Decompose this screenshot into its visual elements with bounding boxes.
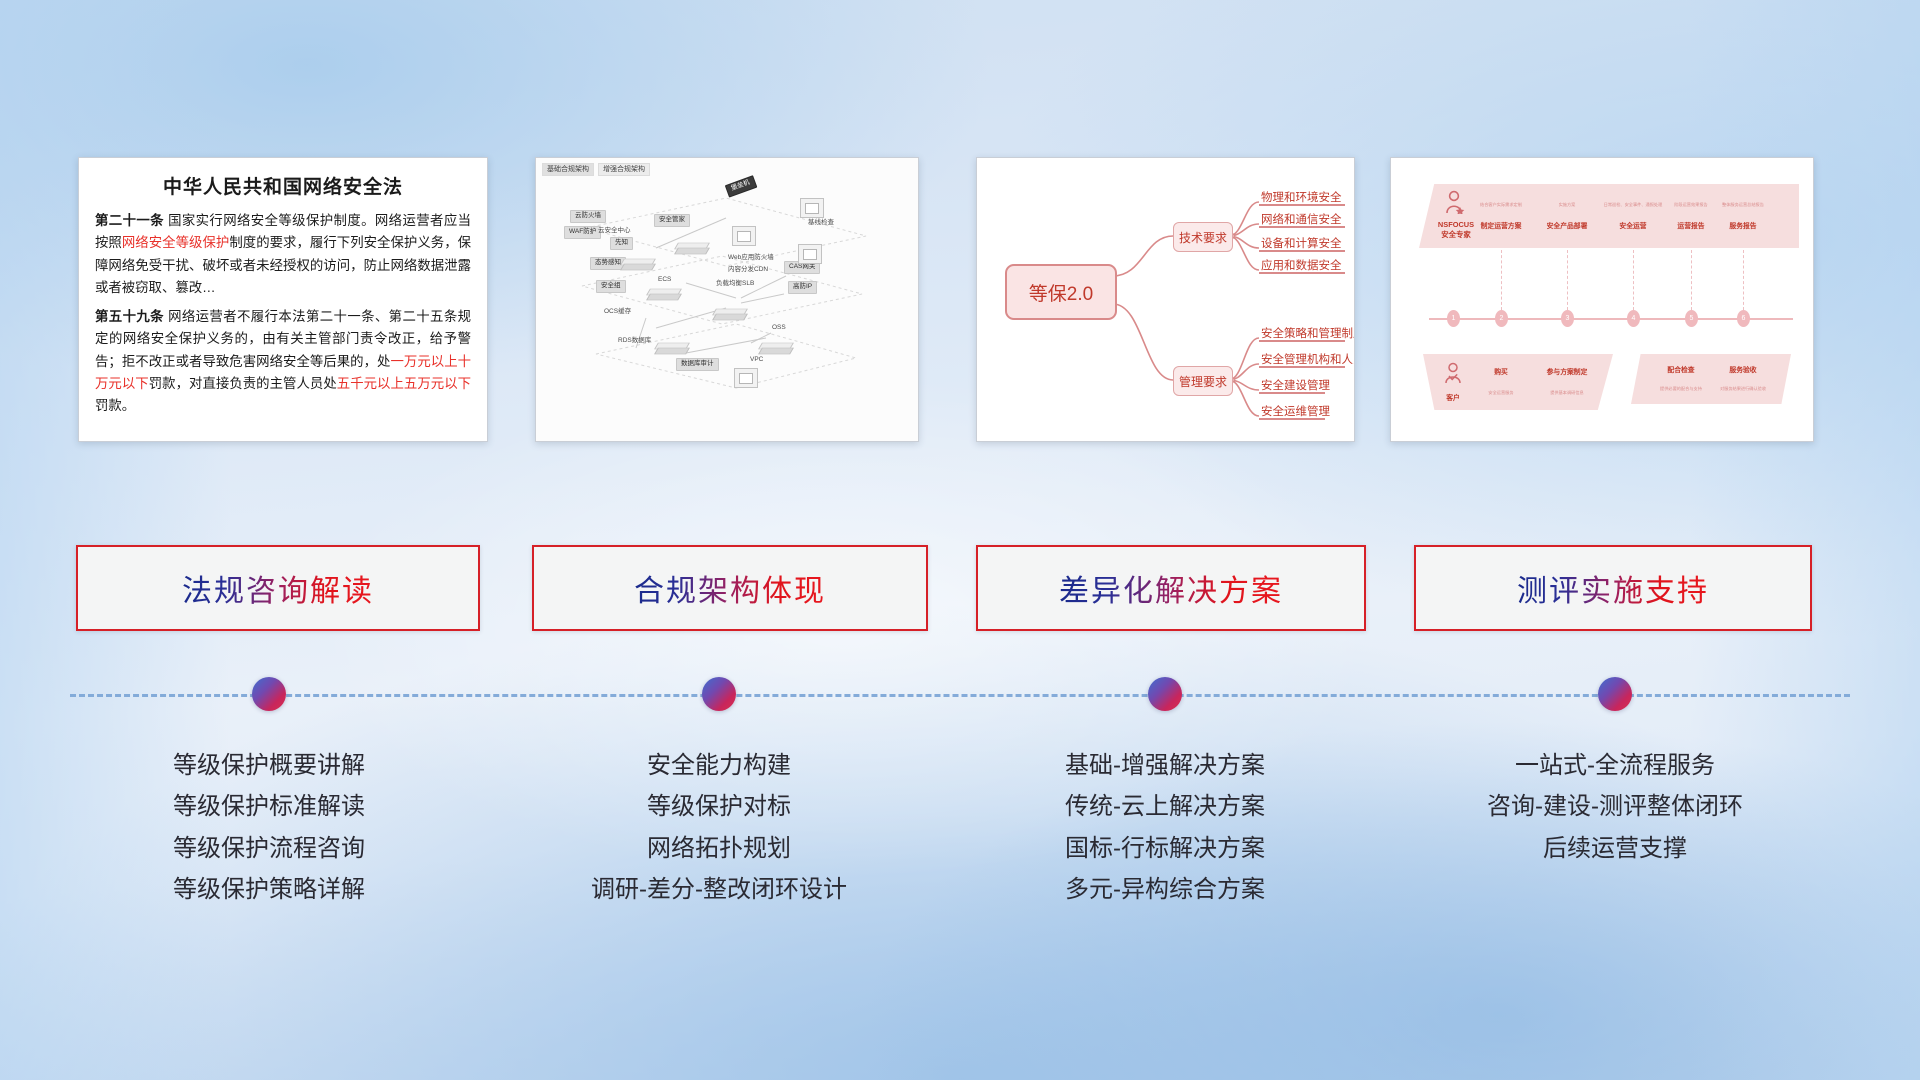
flow-bottom-step-subtext: 提供基本调研信息 [1531,390,1603,396]
architecture-node: 基线检查 [804,218,838,229]
mindmap-leaf-underline [1259,204,1345,206]
pillar-column-3: 基础-增强解决方案传统-云上解决方案国标-行标解决方案多元-异构综合方案 [950,745,1380,910]
architecture-node: 云防火墙 [570,210,606,223]
flow-step-label: 制定运营方案 [1469,220,1533,230]
architecture-node: 安全管家 [654,214,690,227]
pillar-heading-box-2[interactable]: 合规架构体现 [532,545,928,631]
thumbnail-card-architecture[interactable]: 基础合规架构 增强合规架构 堡垒机安全管家先知态势感知云防火墙WAF防护云安全中… [535,157,919,442]
pillar-heading-box-3[interactable]: 差异化解决方案 [976,545,1366,631]
pillar-item: 等级保护流程咨询 [54,828,484,869]
flow-step-label: 服务报告 [1711,220,1775,230]
pillar-column-2: 安全能力构建等级保护对标网络拓扑规划调研-差分-整改闭环设计 [504,745,934,910]
flow-step-marker[interactable]: 6 [1737,310,1750,327]
pillar-heading-box-1[interactable]: 法规咨询解读 [76,545,480,631]
pillar-heading-label: 法规咨询解读 [182,566,374,610]
mindmap-leaf[interactable]: 应用和数据安全 [1261,257,1342,273]
flow-band-bottom-right [1631,354,1791,404]
customer-icon [1443,362,1463,389]
flow-tick [1743,250,1745,310]
architecture-connectors [536,158,918,441]
flow-bottom-right-label: 服务验收 [1711,364,1775,374]
flow-step-marker[interactable]: 5 [1685,310,1698,327]
mindmap-leaf-underline [1259,226,1345,228]
mindmap-leaf-underline [1259,418,1325,420]
architecture-node: ECS [654,275,675,286]
law-body: 第二十一条 国家实行网络安全等级保护制度。网络运营者应当按照网络安全等级保护制度… [95,210,471,417]
architecture-node: Web应用防火墙 [724,253,778,264]
pillar-heading-label: 合规架构体现 [634,566,826,610]
flow-step-marker[interactable]: 2 [1495,310,1508,327]
architecture-node: 数据库审计 [676,358,719,371]
architecture-node: 先知 [610,237,633,250]
flow-step-label: 安全运营 [1601,220,1665,230]
flow-bottom-right-label: 配合检查 [1649,364,1713,374]
mindmap-root[interactable]: 等保2.0 [1005,264,1117,320]
law-paragraph: 第二十一条 国家实行网络安全等级保护制度。网络运营者应当按照网络安全等级保护制度… [95,210,471,299]
pillar-item: 安全能力构建 [504,745,934,786]
flow-tick [1567,250,1569,310]
mindmap-leaf-underline [1259,340,1345,342]
law-text: 罚款，对直接负责的主管人员处 [149,376,337,391]
law-article-number: 第五十九条 [95,309,164,324]
flow-bottom-step-label: 参与方案制定 [1535,366,1599,376]
flow-step-label: 安全产品部署 [1535,220,1599,230]
architecture-node: 高防IP [788,281,817,294]
pillar-item: 传统-云上解决方案 [950,786,1380,827]
thumbnail-card-flow[interactable]: NSFOCUS安全专家 制定运营方案结合客户实际需求定制安全产品部署实施方案安全… [1390,157,1814,442]
pillar-item: 网络拓扑规划 [504,828,934,869]
flow-bottom-right-subtext: 对服务结果进行确认验收 [1705,386,1781,392]
timeline-axis [70,694,1850,697]
architecture-node: 负载均衡SLB [712,279,758,290]
pillar-item: 基础-增强解决方案 [950,745,1380,786]
pillar-item: 等级保护概要讲解 [54,745,484,786]
architecture-node: 安全组 [596,280,626,293]
pillar-heading-box-4[interactable]: 测评实施支持 [1414,545,1812,631]
flow-step-subtext: 实施方案 [1531,202,1603,208]
mindmap-branch[interactable]: 管理要求 [1173,366,1233,396]
mindmap-leaf-underline [1259,392,1325,394]
mindmap-leaf[interactable]: 安全运维管理 [1261,403,1330,419]
mindmap-branch[interactable]: 技术要求 [1173,222,1233,252]
pillar-item: 咨询-建设-测评整体闭环 [1400,786,1830,827]
mindmap-diagram: 等保2.0 技术要求物理和环境安全网络和通信安全设备和计算安全应用和数据安全管理… [977,158,1354,441]
law-text: 罚款。 [95,398,135,413]
law-highlight-text: 五千元以上五万元以下 [337,376,471,391]
mindmap-leaf[interactable]: 安全管理机构和人员 [1261,351,1355,367]
pillar-heading-label: 测评实施支持 [1517,566,1709,610]
pillar-column-1: 等级保护概要讲解等级保护标准解读等级保护流程咨询等级保护策略详解 [54,745,484,910]
timeline-marker-4[interactable] [1598,677,1632,711]
pillar-heading-label: 差异化解决方案 [1059,566,1283,610]
mindmap-leaf[interactable]: 网络和通信安全 [1261,211,1342,227]
pillar-item: 等级保护策略详解 [54,869,484,910]
timeline-marker-3[interactable] [1148,677,1182,711]
mindmap-leaf[interactable]: 设备和计算安全 [1261,235,1342,251]
mindmap-leaf-underline [1259,272,1345,274]
flow-step-subtext: 结合客户实际需求定制 [1465,202,1537,208]
flow-diagram: NSFOCUS安全专家 制定运营方案结合客户实际需求定制安全产品部署实施方案安全… [1391,158,1813,441]
pillar-item: 一站式-全流程服务 [1400,745,1830,786]
law-highlight-text: 网络安全等级保护 [122,235,229,250]
architecture-node: OSS [768,323,790,334]
flow-step-subtext: 整体服务运营总结报告 [1707,202,1779,208]
flow-bottom-step-label: 购买 [1469,366,1533,376]
architecture-node: RDS数据库 [614,336,655,347]
pillar-column-4: 一站式-全流程服务咨询-建设-测评整体闭环后续运营支撑 [1400,745,1830,869]
slide-stage: 中华人民共和国网络安全法 第二十一条 国家实行网络安全等级保护制度。网络运营者应… [0,0,1920,1080]
architecture-node: OCS缓存 [600,307,635,318]
flow-bottom-step-subtext: 安全运营服务 [1465,390,1537,396]
timeline-marker-2[interactable] [702,677,736,711]
flow-step-marker[interactable]: 4 [1627,310,1640,327]
flow-tick [1501,250,1503,310]
law-document: 中华人民共和国网络安全法 第二十一条 国家实行网络安全等级保护制度。网络运营者应… [79,158,487,434]
flow-tick [1633,250,1635,310]
flow-step-marker[interactable]: 1 [1447,310,1460,327]
mindmap-leaf-underline [1259,366,1345,368]
law-article-number: 第二十一条 [95,213,164,228]
mindmap-leaf[interactable]: 物理和环境安全 [1261,189,1342,205]
flow-step-marker[interactable]: 3 [1561,310,1574,327]
flow-tick [1691,250,1693,310]
architecture-node: VPC [746,355,767,366]
timeline-marker-1[interactable] [252,677,286,711]
mindmap-leaf-underline [1259,250,1345,252]
pillar-item: 后续运营支撑 [1400,828,1830,869]
architecture-node: 内容分发CDN [724,265,772,276]
thumbnail-card-law[interactable]: 中华人民共和国网络安全法 第二十一条 国家实行网络安全等级保护制度。网络运营者应… [78,157,488,442]
architecture-node: 云安全中心 [594,226,635,237]
pillar-item: 等级保护对标 [504,786,934,827]
mindmap-leaf[interactable]: 安全建设管理 [1261,377,1330,393]
mindmap-leaf[interactable]: 安全策略和管理制度 [1261,325,1355,341]
pillar-item: 等级保护标准解读 [54,786,484,827]
pillar-item: 国标-行标解决方案 [950,828,1380,869]
thumbnail-card-mindmap[interactable]: 等保2.0 技术要求物理和环境安全网络和通信安全设备和计算安全应用和数据安全管理… [976,157,1355,442]
law-title: 中华人民共和国网络安全法 [95,172,471,199]
expert-icon [1443,190,1465,219]
pillar-item: 调研-差分-整改闭环设计 [504,869,934,910]
architecture-diagram: 基础合规架构 增强合规架构 堡垒机安全管家先知态势感知云防火墙WAF防护云安全中… [536,158,918,441]
law-paragraph: 第五十九条 网络运营者不履行本法第二十一条、第二十五条规定的网络安全保护义务的，… [95,306,471,417]
pillar-item: 多元-异构综合方案 [950,869,1380,910]
